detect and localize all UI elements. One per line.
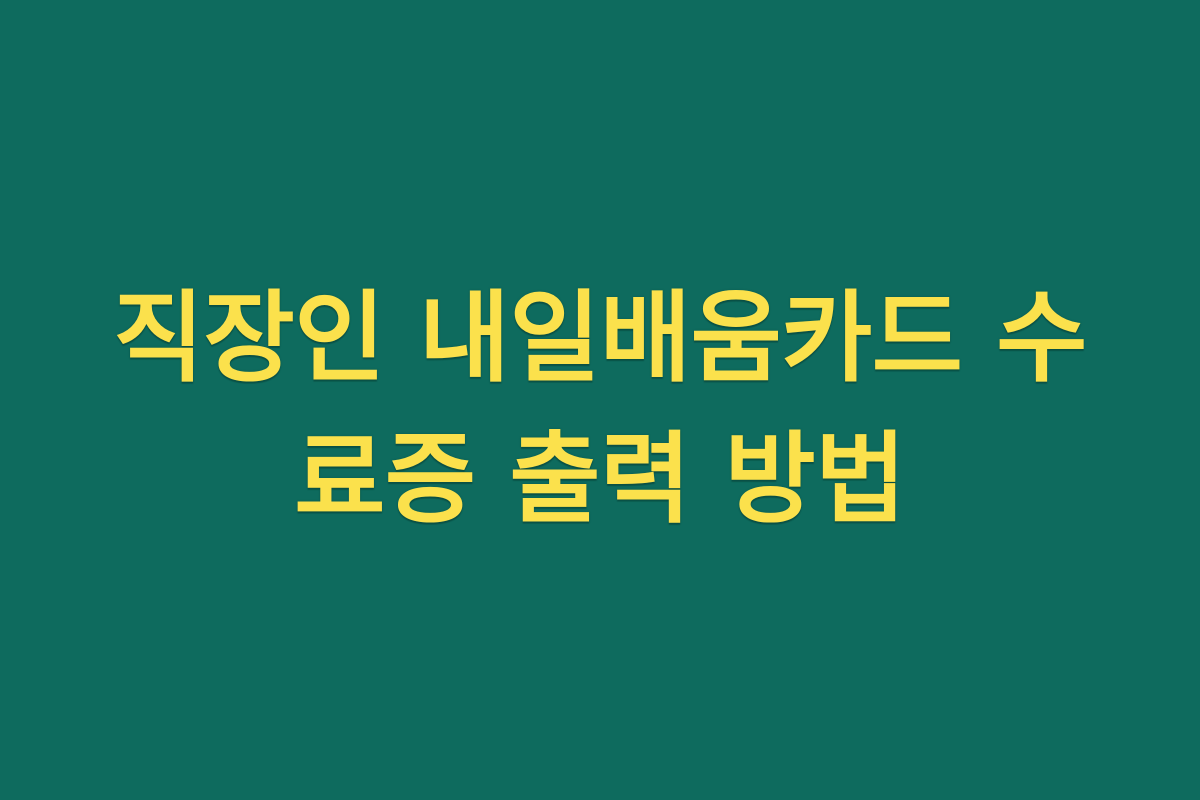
banner-title-line-2: 료증 출력 방법 [70, 410, 1130, 551]
banner-title-line-1: 직장인 내일배움카드 수 [70, 269, 1130, 410]
title-banner: 직장인 내일배움카드 수 료증 출력 방법 [0, 0, 1200, 800]
banner-title-block: 직장인 내일배움카드 수 료증 출력 방법 [70, 269, 1130, 550]
